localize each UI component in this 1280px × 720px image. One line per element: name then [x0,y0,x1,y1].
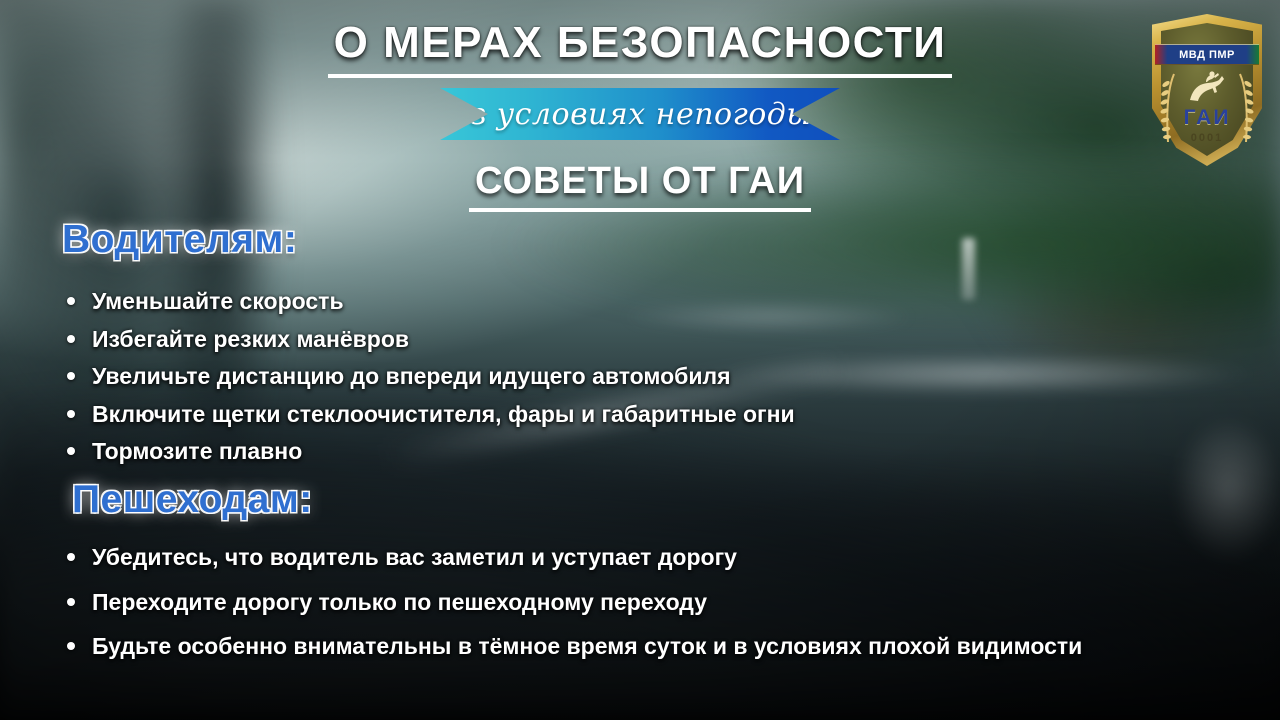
list-item: Уменьшайте скорость [62,286,1152,317]
horse-rider-icon [1184,70,1230,104]
list-item: Тормозите плавно [62,436,1152,467]
list-item: Убедитесь, что водитель вас заметил и ус… [62,542,1182,573]
subtitle-ribbon-text: в условиях непогоды [469,97,812,132]
gai-badge-emblem: МВД ПМР ГАИ 0001 [1152,14,1262,166]
list-item-text: Переходите дорогу только по пешеходному … [92,589,707,615]
bullet-dot-icon [67,297,75,305]
list-item-text: Включите щетки стеклоочистителя, фары и … [92,401,795,427]
list-item: Будьте особенно внимательны в тёмное вре… [62,631,1182,662]
list-item-text: Будьте особенно внимательны в тёмное вре… [92,633,1082,659]
list-item: Избегайте резких манёвров [62,324,1152,355]
safety-poster: О МЕРАХ БЕЗОПАСНОСТИ в условиях непогоды… [0,0,1280,720]
section-heading-pedestrians: Пешеходам: [72,478,313,522]
bullet-dot-icon [67,447,75,455]
badge-ministry-ribbon: МВД ПМР [1155,44,1259,65]
bullet-dot-icon [67,372,75,380]
poster-secondary-title: СОВЕТЫ ОТ ГАИ [0,160,1280,212]
badge-ministry-label: МВД ПМР [1179,49,1235,61]
bullet-dot-icon [67,598,75,606]
bullet-dot-icon [67,642,75,650]
bullet-dot-icon [67,553,75,561]
list-item: Переходите дорогу только по пешеходному … [62,587,1182,618]
bullet-dot-icon [67,335,75,343]
badge-agency-label: ГАИ [1152,106,1262,130]
section-heading-drivers: Водителям: [62,218,297,262]
list-item-text: Увеличьте дистанцию до впереди идущего а… [92,363,731,389]
list-item-text: Уменьшайте скорость [92,288,344,314]
poster-main-title-text: О МЕРАХ БЕЗОПАСНОСТИ [328,18,953,78]
subtitle-ribbon-banner: в условиях непогоды [440,88,840,140]
advice-list-pedestrians: Убедитесь, что водитель вас заметил и ус… [62,542,1182,676]
list-item-text: Убедитесь, что водитель вас заметил и ус… [92,544,737,570]
advice-list-drivers: Уменьшайте скорость Избегайте резких ман… [62,286,1152,474]
bullet-dot-icon [67,410,75,418]
poster-main-title: О МЕРАХ БЕЗОПАСНОСТИ [0,18,1280,83]
list-item: Увеличьте дистанцию до впереди идущего а… [62,361,1152,392]
badge-serial-number: 0001 [1152,132,1262,144]
poster-secondary-title-text: СОВЕТЫ ОТ ГАИ [469,160,811,212]
list-item-text: Избегайте резких манёвров [92,326,409,352]
list-item: Включите щетки стеклоочистителя, фары и … [62,399,1152,430]
list-item-text: Тормозите плавно [92,438,302,464]
